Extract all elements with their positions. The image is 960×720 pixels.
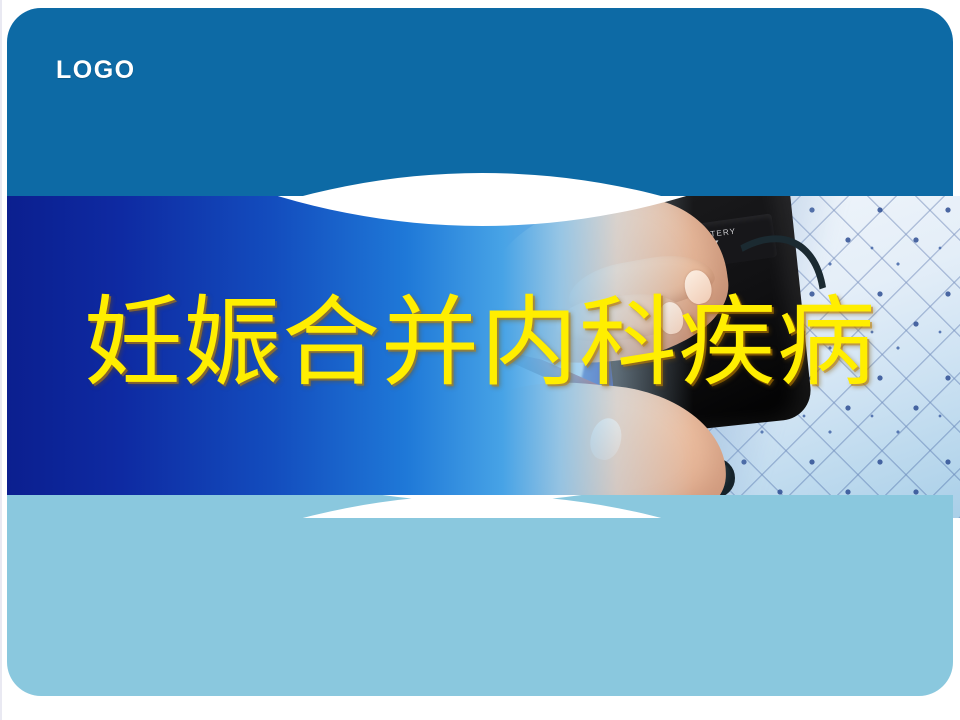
footer-panel [7,495,953,696]
header-band: LOGO [7,8,953,223]
slide-title[interactable]: 妊娠合并内科疾病 [0,294,960,392]
slide-canvas: LOGO ARTERY [0,0,960,720]
logo-text[interactable]: LOGO [56,58,136,83]
